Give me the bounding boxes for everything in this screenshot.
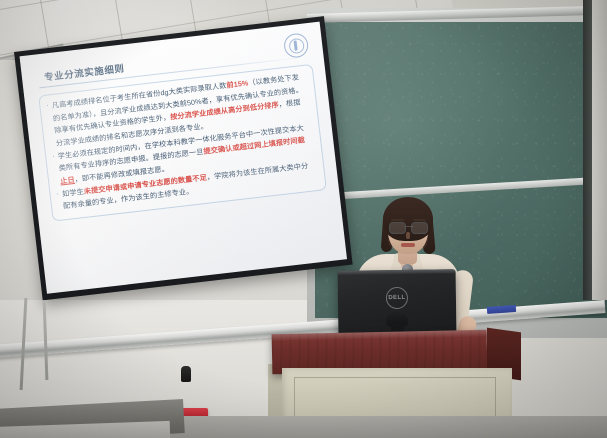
slide-content-box: ·凡高考成绩排名位于考生所在省份dg大类实际录取人数前15%（以教务处下发 的名…	[38, 64, 327, 222]
slide-bullet-marker	[50, 138, 53, 150]
slide-bullet-marker	[53, 163, 56, 175]
wall-socket-icon	[181, 366, 191, 382]
presenter-mouth	[401, 243, 415, 247]
slide-text-segment: 如学生	[62, 187, 85, 198]
slide-bullet-marker: ·	[52, 151, 56, 163]
glasses-lens-right	[411, 222, 428, 234]
glasses-icon	[389, 222, 428, 232]
dell-monitor: DELL	[338, 269, 457, 335]
slide-bullet-marker	[57, 201, 60, 213]
slide-bullet-marker	[47, 113, 50, 125]
glasses-lens-left	[389, 222, 406, 234]
screen-surface: 专业分流实施细则 ·凡高考成绩排名位于考生所在省份dg大类实际录取人数前15%（…	[20, 22, 347, 294]
right-wall-post	[592, 0, 607, 300]
slide-bullet-marker: ·	[56, 188, 60, 200]
classroom-photo: 专业分流实施细则 ·凡高考成绩排名位于考生所在省份dg大类实际录取人数前15%（…	[0, 0, 607, 438]
slide-bullet-marker: ·	[46, 100, 50, 112]
presenter-nose	[406, 232, 410, 239]
slide-text-segment: 止日	[60, 175, 76, 186]
projection-screen: 专业分流实施细则 ·凡高考成绩排名位于考生所在省份dg大类实际录取人数前15%（…	[14, 16, 353, 300]
slide-text-segment: 前15%	[226, 78, 249, 89]
slide-bullet-marker	[49, 126, 52, 138]
monitor-brand-label: DELL	[388, 295, 405, 301]
slide-text-segment: ，根据	[278, 98, 301, 109]
slide-bullet-marker	[55, 176, 58, 188]
dell-logo-icon: DELL	[386, 287, 408, 309]
presentation-slide: 专业分流实施细则 ·凡高考成绩排名位于考生所在省份dg大类实际录取人数前15%（…	[20, 22, 347, 294]
monitor-top-edge	[338, 269, 456, 275]
